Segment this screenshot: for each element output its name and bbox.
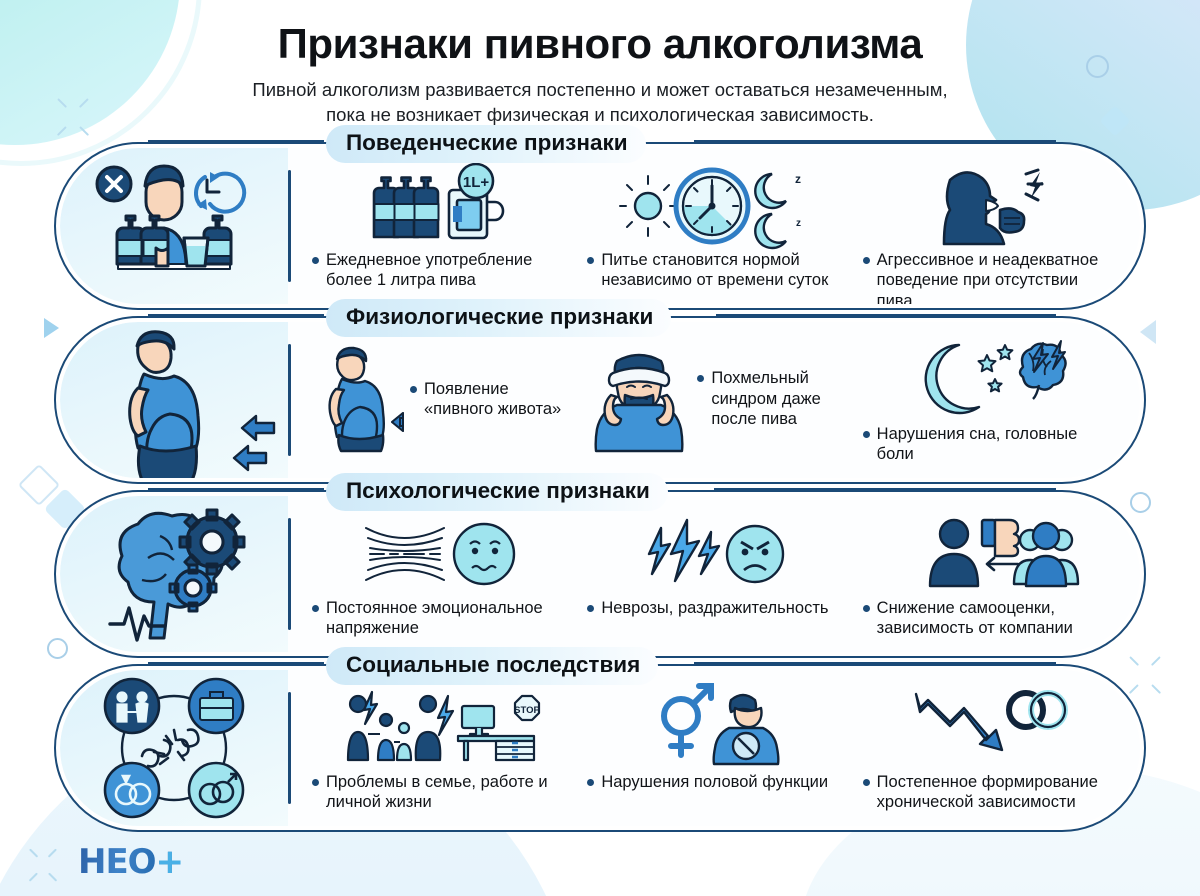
section-rule-right (694, 140, 1056, 143)
section-title: Психологические признаки (326, 473, 668, 511)
section-items: Появление «пивного живота» (298, 328, 1124, 472)
list-item-bullet-row: Нарушения сна, головные боли (863, 424, 1118, 465)
section-card-inner: Постоянное эмоциональное напряжение (60, 496, 1140, 652)
page-header: Признаки пивного алкоголизма Пивной алко… (0, 0, 1200, 128)
list-item-text: Ежедневное употребление более 1 литра пи… (326, 250, 567, 291)
bullet-dot (312, 257, 319, 264)
list-item: z z Питье становится нормой независимо о… (573, 154, 848, 298)
section-illustration-pane (60, 148, 288, 304)
page-title: Признаки пивного алкоголизма (0, 22, 1200, 66)
list-item-bullet-row: Питье становится нормой независимо от вр… (587, 250, 842, 291)
section-behavioral: 1L+ Ежедневное употребление более 1 литр… (54, 142, 1146, 310)
list-item-bullet-row: Похмельный синдром даже после пива (697, 368, 842, 429)
section-rule-right (694, 662, 1056, 665)
bullet-dot (863, 605, 870, 612)
list-item-bullet-row: Постепенное формирование хронической зав… (863, 772, 1118, 813)
list-item: Агрессивное и неадекватное поведение при… (849, 154, 1124, 298)
brand-logo-plus: + (156, 842, 184, 882)
list-item-text: Похмельный синдром даже после пива (711, 368, 842, 429)
section-items: STOP Проблемы в семье, работе и личной ж… (298, 676, 1124, 820)
section-card: Постоянное эмоциональное напряжение (54, 490, 1146, 658)
beer-bottles-1liter-mug-icon: 1L+ (312, 168, 567, 244)
sections-list: 1L+ Ежедневное употребление более 1 литр… (0, 142, 1200, 832)
section-rule-right (716, 314, 1056, 317)
section-card: 1L+ Ежедневное употребление более 1 литр… (54, 142, 1146, 310)
section-card-inner: Появление «пивного живота» (60, 322, 1140, 478)
list-item-bullet-row: Постоянное эмоциональное напряжение (312, 598, 567, 639)
page-subtitle-line-1: Пивной алкоголизм развивается постепенно… (252, 79, 947, 100)
broken-chain-life-circles-icon (60, 670, 288, 826)
section-card-inner: STOP Проблемы в семье, работе и личной ж… (60, 670, 1140, 826)
svg-text:STOP: STOP (514, 705, 540, 716)
list-item-bullet-row: Проблемы в семье, работе и личной жизни (312, 772, 567, 813)
lightning-angry-face-icon (587, 516, 842, 592)
list-item-bullet-row: Снижение самооценки, зависимость от комп… (863, 598, 1118, 639)
section-psychological: Постоянное эмоциональное напряжение (54, 490, 1146, 658)
section-rule-left (148, 140, 324, 143)
gender-symbol-blocked-man-icon (587, 690, 842, 766)
list-item: Постоянное эмоциональное напряжение (298, 502, 573, 646)
section-title: Физиологические признаки (326, 299, 671, 337)
list-item-text: Питье становится нормой независимо от вр… (601, 250, 842, 291)
section-illustration-pane (60, 496, 288, 652)
section-rule-left (148, 488, 324, 491)
bullet-dot (863, 257, 870, 264)
section-card-inner: 1L+ Ежедневное употребление более 1 литр… (60, 148, 1140, 304)
section-card: Появление «пивного живота» (54, 316, 1146, 484)
list-item: STOP Проблемы в семье, работе и личной ж… (298, 676, 573, 820)
section-title: Социальные последствия (326, 647, 658, 685)
bullet-dot (312, 605, 319, 612)
section-header: Психологические признаки (326, 473, 668, 511)
svg-text:z: z (796, 218, 801, 229)
section-rule-left (148, 662, 324, 665)
shouting-man-fist-icon (863, 168, 1118, 244)
section-title: Поведенческие признаки (326, 125, 646, 163)
section-divider (288, 518, 291, 630)
list-item-bullet-row: Неврозы, раздражительность (587, 598, 828, 618)
section-header: Поведенческие признаки (326, 125, 646, 163)
svg-text:z: z (795, 172, 801, 186)
bullet-dot (587, 605, 594, 612)
spark-decoration-bottom-left (28, 850, 58, 880)
list-item-text: Неврозы, раздражительность (601, 598, 828, 618)
bullet-dot (587, 257, 594, 264)
moon-stars-brain-lightning-icon (863, 342, 1118, 418)
section-rule-left (148, 314, 324, 317)
section-social: STOP Проблемы в семье, работе и личной ж… (54, 664, 1146, 832)
list-item: Неврозы, раздражительность (573, 502, 848, 646)
brain-with-gears-pulse-icon (60, 496, 288, 652)
list-item-text: Нарушения сна, головные боли (877, 424, 1118, 465)
brand-logo-name: НЕО (78, 842, 156, 882)
declining-arrow-rings-icon (863, 690, 1118, 766)
brand-logo: НЕО+ (78, 842, 183, 882)
list-item-text: Нарушения половой функции (601, 772, 828, 792)
list-item-text: Появление «пивного живота» (424, 379, 567, 420)
list-item: Появление «пивного живота» (298, 328, 573, 472)
section-divider (288, 692, 291, 804)
list-item-text: Агрессивное и неадекватное поведение при… (877, 250, 1118, 304)
list-item: Снижение самооценки, зависимость от комп… (849, 502, 1124, 646)
list-item-text: Проблемы в семье, работе и личной жизни (326, 772, 567, 813)
list-item: Постепенное формирование хронической зав… (849, 676, 1124, 820)
thumbs-down-group-pressure-icon (863, 516, 1118, 592)
bullet-dot (863, 779, 870, 786)
list-item-bullet-row: Появление «пивного живота» (410, 379, 567, 420)
family-conflict-work-stop-icon: STOP (312, 690, 567, 766)
section-divider (288, 344, 291, 456)
man-with-beer-belly-arrows-icon (60, 322, 288, 478)
hangover-headache-man-icon (587, 347, 691, 451)
man-beer-belly-side-icon (312, 347, 404, 451)
list-item: Похмельный синдром даже после пива (573, 328, 848, 472)
sun-clock-moon-icon: z z (587, 168, 842, 244)
bullet-dot (863, 431, 870, 438)
list-item: 1L+ Ежедневное употребление более 1 литр… (298, 154, 573, 298)
section-card: STOP Проблемы в семье, работе и личной ж… (54, 664, 1146, 832)
list-item-bullet-row: Ежедневное употребление более 1 литра пи… (312, 250, 567, 291)
list-item-text: Постоянное эмоциональное напряжение (326, 598, 567, 639)
section-physiological: Появление «пивного живота» (54, 316, 1146, 484)
bullet-dot (312, 779, 319, 786)
page-subtitle: Пивной алкоголизм развивается постепенно… (150, 78, 1050, 128)
bullet-dot (697, 375, 704, 382)
bullet-dot (587, 779, 594, 786)
list-item-bullet-row: Агрессивное и неадекватное поведение при… (863, 250, 1118, 304)
section-illustration-pane (60, 670, 288, 826)
man-with-beer-bottles-daily-cycle-icon (60, 148, 288, 304)
tension-lines-worried-face-icon (312, 516, 567, 592)
section-header: Физиологические признаки (326, 299, 671, 337)
svg-text:1L+: 1L+ (463, 174, 490, 191)
section-items: Постоянное эмоциональное напряжение (298, 502, 1124, 646)
section-divider (288, 170, 291, 282)
list-item-text: Снижение самооценки, зависимость от комп… (877, 598, 1118, 639)
section-illustration-pane (60, 322, 288, 478)
list-item: Нарушения половой функции (573, 676, 848, 820)
section-rule-right (714, 488, 1056, 491)
list-item-bullet-row: Нарушения половой функции (587, 772, 828, 792)
list-item: Нарушения сна, головные боли (849, 328, 1124, 472)
bullet-dot (410, 386, 417, 393)
section-items: 1L+ Ежедневное употребление более 1 литр… (298, 154, 1124, 298)
page-subtitle-line-2: пока не возникает физическая и психологи… (326, 104, 874, 125)
section-header: Социальные последствия (326, 647, 658, 685)
list-item-text: Постепенное формирование хронической зав… (877, 772, 1118, 813)
